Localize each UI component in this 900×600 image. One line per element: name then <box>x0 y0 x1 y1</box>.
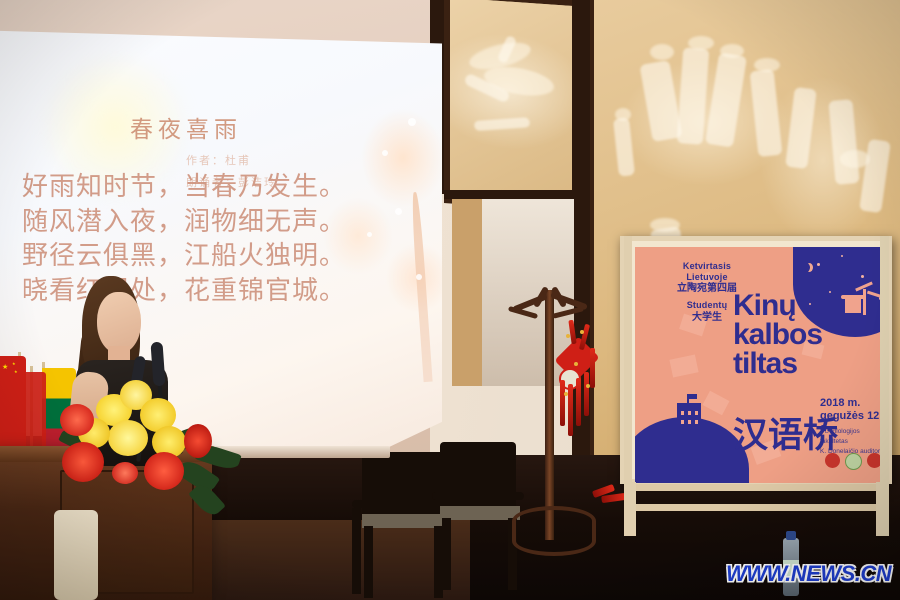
mural-texture-left <box>450 0 580 207</box>
poster-venue-line-1: VU Filologijos fakultetas <box>820 427 887 447</box>
poster-title: Kinų kalbos tiltas <box>733 291 822 378</box>
speaker-face <box>97 292 141 354</box>
poem-author: 作者：杜甫 <box>186 152 251 168</box>
relief-mural-panel-left <box>444 0 586 213</box>
poster-title-line-1: Kinų <box>733 291 822 320</box>
poster-header-lt-1: Ketvirtasis <box>659 261 755 272</box>
gediminas-tower-graphic <box>677 403 701 435</box>
poem-title: 春夜喜雨 <box>130 110 242 144</box>
confucius-institute-logo-icon <box>845 453 862 470</box>
easel-legs <box>620 482 892 536</box>
bottle-cap <box>786 531 796 540</box>
poster-venue: VU Filologijos fakultetas K. Donelaičio … <box>820 427 887 456</box>
poster-date-line-1: 2018 m. <box>820 397 887 410</box>
chinese-knot-decoration <box>556 318 602 440</box>
poster-title-line-3: tiltas <box>733 349 822 378</box>
door-frame <box>452 196 482 386</box>
poster-header-lt-2: Lietuvoje <box>659 272 755 283</box>
poster-title-line-2: kalbos <box>733 320 822 349</box>
photo-scene: 春夜喜雨 作者：杜甫 朗诵者：彭洁玲 好雨知时节，当春乃发生。 随风潜入夜，润物… <box>0 0 900 600</box>
news-watermark: WWW.NEWS.CN <box>726 561 891 587</box>
tower-flag-graphic <box>689 394 697 399</box>
easel-frame: Ketvirtasis Lietuvoje 立陶宛第四届 Studentų 大学… <box>620 236 892 484</box>
poster-logo-row <box>825 453 882 470</box>
hanban-logo-icon <box>825 453 840 468</box>
chinese-bridge-poster: Ketvirtasis Lietuvoje 立陶宛第四届 Studentų 大学… <box>635 247 887 483</box>
coat-rack-base <box>512 506 596 556</box>
coat-rack <box>545 290 554 540</box>
poster-easel: Ketvirtasis Lietuvoje 立陶宛第四届 Studentų 大学… <box>620 236 892 536</box>
